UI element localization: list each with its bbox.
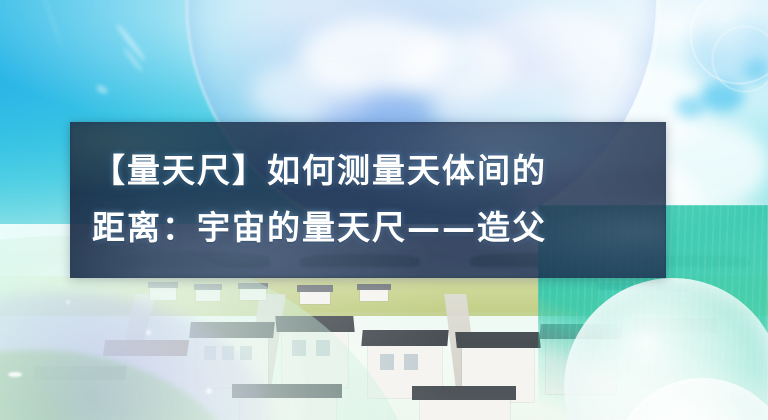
bubble-speck (66, 300, 70, 304)
cover-image: 【量天尺】如何测量天体间的 距离：宇宙的量天尺——造父 (0, 0, 768, 420)
title-line-1: 【量天尺】如何测量天体间的 (92, 143, 644, 200)
title-text-block: 【量天尺】如何测量天体间的 距离：宇宙的量天尺——造父 (70, 122, 666, 278)
bubble-speck (146, 330, 151, 335)
bubble-speck (206, 388, 212, 394)
title-line-2: 距离：宇宙的量天尺——造父 (92, 200, 644, 257)
title-banner: 【量天尺】如何测量天体间的 距离：宇宙的量天尺——造父 (70, 122, 666, 278)
bubble-speck (8, 372, 22, 377)
sky-patch (676, 96, 706, 118)
